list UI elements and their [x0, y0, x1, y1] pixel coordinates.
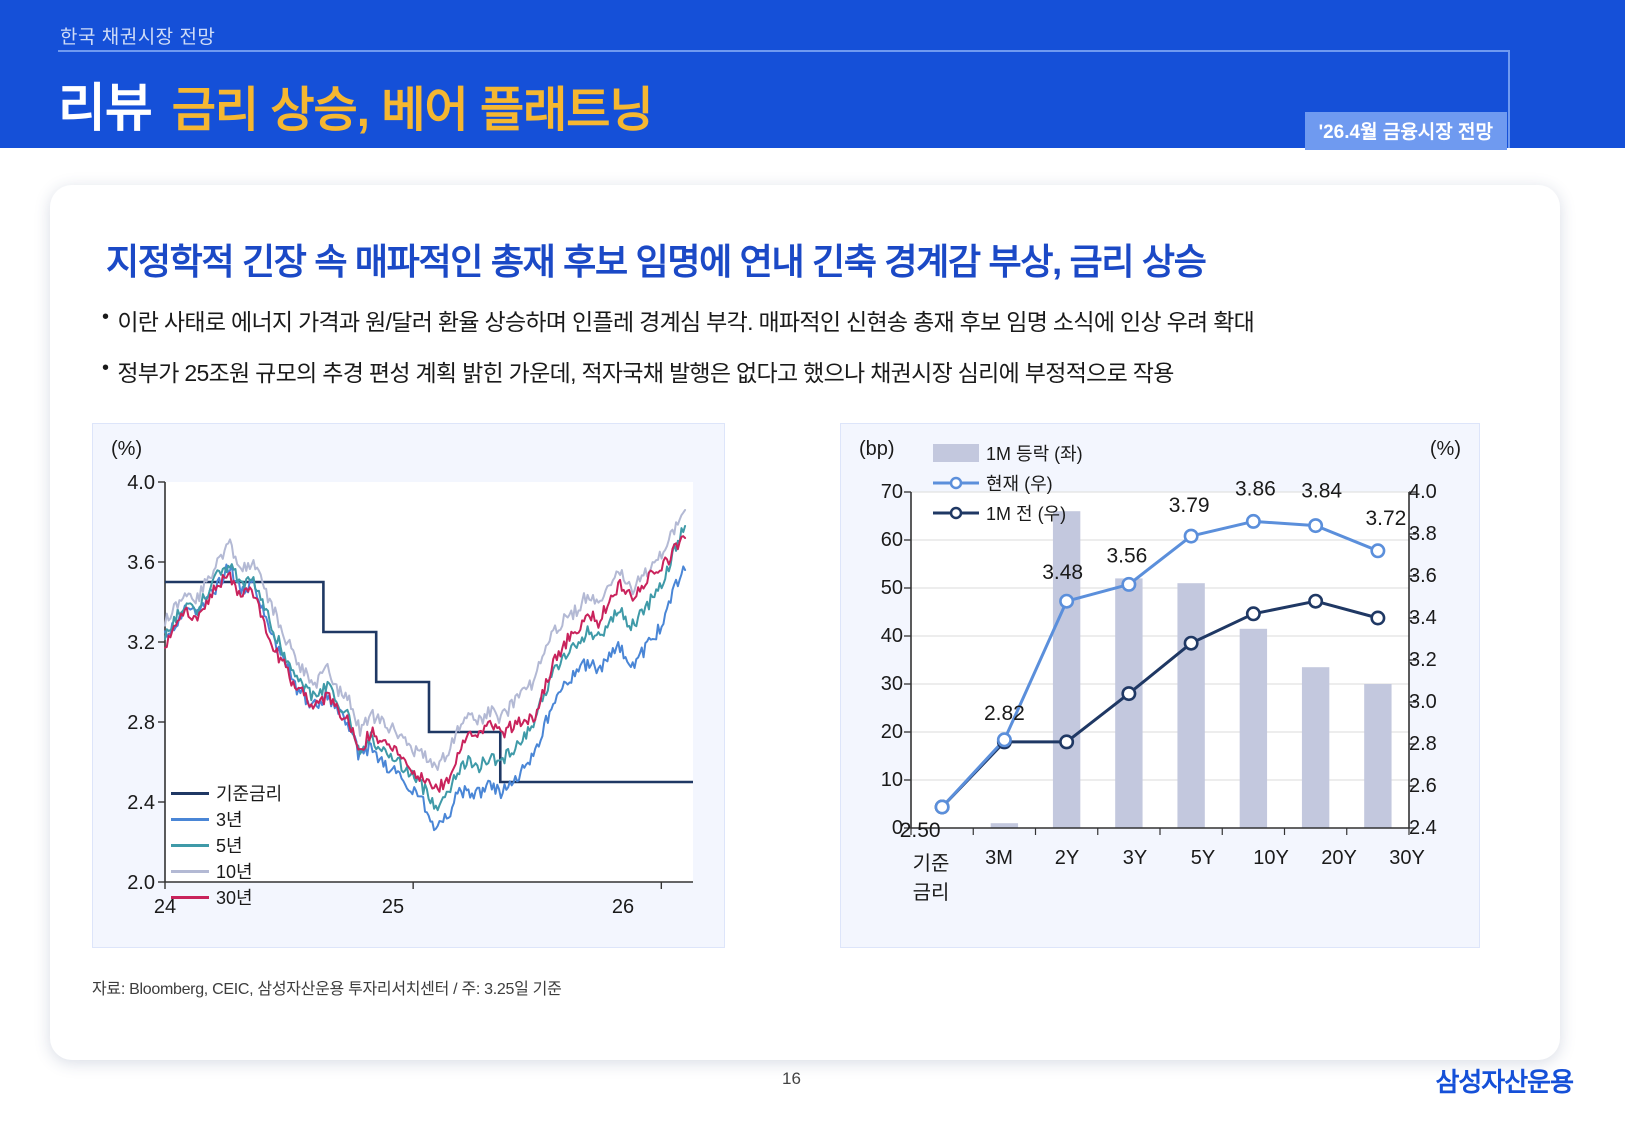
list-item: • 이란 사태로 에너지 가격과 원/달러 환율 상승하며 인플레 경계심 부각…: [102, 303, 1522, 337]
right-chart-left-ytick: 70: [841, 481, 903, 504]
data-label: 3.56: [1106, 544, 1147, 567]
content-card: 지정학적 긴장 속 매파적인 총재 후보 임명에 연내 긴축 경계감 부상, 금…: [50, 185, 1560, 1060]
data-point: [1060, 595, 1072, 607]
right-chart-xtick: 2Y: [1033, 847, 1101, 870]
left-chart-xtick: 25: [373, 896, 413, 919]
right-chart-right-ytick: 4.0: [1409, 481, 1471, 504]
right-chart-xtick: 10Y: [1237, 847, 1305, 870]
legend-label: 1M 등락 (좌): [986, 440, 1083, 466]
bar: [1053, 511, 1080, 828]
source-note: 자료: Bloomberg, CEIC, 삼성자산운용 투자리서치센터 / 주:…: [92, 975, 562, 999]
right-chart-right-ytick: 2.6: [1409, 775, 1471, 798]
right-chart-right-ytick: 2.4: [1409, 817, 1471, 840]
right-chart-xtick: 30Y: [1373, 847, 1441, 870]
left-chart-legend-item: 3년: [171, 806, 243, 832]
data-point: [1185, 637, 1197, 649]
data-point: [1060, 736, 1072, 748]
data-point: [1185, 530, 1197, 542]
legend-label: 현재 (우): [986, 470, 1053, 496]
data-label: 3.72: [1365, 507, 1406, 530]
right-chart-right-ytick: 2.8: [1409, 733, 1471, 756]
header-divider: [58, 50, 1510, 52]
legend-swatch-line-icon: [171, 818, 209, 821]
right-chart-right-ytick: 3.6: [1409, 565, 1471, 588]
bar: [1177, 583, 1204, 828]
left-chart-ytick: 2.8: [93, 712, 155, 735]
legend-swatch-line-marker-icon: [933, 476, 979, 490]
legend-swatch-line-marker-icon: [933, 506, 979, 520]
left-chart-legend-item: 5년: [171, 832, 243, 858]
legend-swatch-line-icon: [171, 844, 209, 847]
section-headline: 지정학적 긴장 속 매파적인 총재 후보 임명에 연내 긴축 경계감 부상, 금…: [106, 233, 1506, 285]
legend-swatch-line-icon: [171, 792, 209, 795]
slide-header: 한국 채권시장 전망 리뷰 금리 상승, 베어 플래트닝 '26.4월 금융시장…: [0, 0, 1625, 148]
right-chart-xtick: 기준: [897, 847, 965, 876]
legend-label: 기준금리: [216, 780, 282, 806]
data-point: [1309, 519, 1321, 531]
bullet-list: • 이란 사태로 에너지 가격과 원/달러 환율 상승하며 인플레 경계심 부각…: [102, 303, 1522, 405]
bar: [1302, 667, 1329, 828]
right-chart-left-ytick: 60: [841, 529, 903, 552]
legend-label: 3년: [216, 806, 243, 832]
left-chart-ytick: 2.0: [93, 872, 155, 895]
right-chart-legend-item: 1M 전 (우): [933, 500, 1066, 526]
left-chart-xtick: 26: [603, 896, 643, 919]
page-title: 리뷰 금리 상승, 베어 플래트닝: [58, 66, 653, 141]
right-chart-legend-item: 현재 (우): [933, 470, 1053, 496]
left-chart-ytick: 2.4: [93, 792, 155, 815]
legend-label: 10년: [216, 858, 253, 884]
page-title-main: 금리 상승, 베어 플래트닝: [172, 70, 653, 140]
issue-badge: '26.4월 금융시장 전망: [1305, 112, 1507, 150]
data-point: [1372, 612, 1384, 624]
right-chart-xtick: 5Y: [1169, 847, 1237, 870]
right-chart-left-ytick: 50: [841, 577, 903, 600]
right-chart-xtick: 20Y: [1305, 847, 1373, 870]
data-point: [1309, 595, 1321, 607]
legend-swatch-line-icon: [171, 870, 209, 873]
right-chart-left-ytick: 10: [841, 769, 903, 792]
bullet-dot-icon: •: [102, 354, 108, 383]
right-chart-left-ytick: 30: [841, 673, 903, 696]
right-chart-xtick: 3Y: [1101, 847, 1169, 870]
data-point: [1123, 687, 1135, 699]
right-chart-left-ytick: 40: [841, 625, 903, 648]
left-chart-ytick: 4.0: [93, 472, 155, 495]
page-number: 16: [782, 1069, 801, 1089]
legend-label: 5년: [216, 832, 243, 858]
right-chart-xtick-sub: 금리: [897, 876, 965, 905]
left-chart-legend-item: 30년: [171, 884, 253, 910]
bar: [1240, 629, 1267, 828]
right-chart-right-ytick: 3.4: [1409, 607, 1471, 630]
data-point: [1247, 515, 1259, 527]
data-point: [1247, 608, 1259, 620]
slide: 한국 채권시장 전망 리뷰 금리 상승, 베어 플래트닝 '26.4월 금융시장…: [0, 0, 1625, 1125]
right-chart-left-unit: (bp): [859, 438, 895, 461]
header-divider-right: [1508, 50, 1510, 148]
data-point: [1372, 545, 1384, 557]
left-chart-ytick: 3.2: [93, 632, 155, 655]
left-chart-ytick: 3.6: [93, 552, 155, 575]
right-chart-right-ytick: 3.8: [1409, 523, 1471, 546]
data-label: 3.86: [1235, 477, 1276, 500]
data-point: [998, 734, 1010, 746]
left-chart-legend-item: 기준금리: [171, 780, 282, 806]
right-chart-left-ytick: 20: [841, 721, 903, 744]
right-chart-xtick: 3M: [965, 847, 1033, 870]
legend-swatch-bar-icon: [933, 444, 979, 462]
data-label: 3.79: [1169, 494, 1210, 517]
legend-swatch-line-icon: [171, 896, 209, 899]
right-chart-right-ytick: 3.2: [1409, 649, 1471, 672]
left-chart-y-unit: (%): [111, 438, 142, 461]
right-chart-left-ytick: 0: [841, 817, 903, 840]
legend-label: 30년: [216, 884, 253, 910]
data-point: [936, 801, 948, 813]
data-label: 3.48: [1042, 561, 1083, 584]
legend-label: 1M 전 (우): [986, 500, 1066, 526]
bar: [1364, 684, 1391, 828]
right-chart-legend-item: 1M 등락 (좌): [933, 440, 1083, 466]
left-chart-legend-item: 10년: [171, 858, 253, 884]
chart-panel-curve-change: (bp) (%) 70 60 50 40 30 20 10 0 4.0 3.8 …: [840, 423, 1480, 948]
bullet-text: 이란 사태로 에너지 가격과 원/달러 환율 상승하며 인플레 경계심 부각. …: [117, 303, 1254, 337]
list-item: • 정부가 25조원 규모의 추경 편성 계획 밝힌 가운데, 적자국채 발행은…: [102, 354, 1522, 388]
bullet-text: 정부가 25조원 규모의 추경 편성 계획 밝힌 가운데, 적자국채 발행은 없…: [117, 354, 1173, 388]
data-label: 2.82: [984, 702, 1025, 725]
data-label: 2.50: [900, 819, 941, 842]
breadcrumb: 한국 채권시장 전망: [60, 22, 215, 49]
right-chart-right-ytick: 3.0: [1409, 691, 1471, 714]
right-chart-right-unit: (%): [1430, 438, 1461, 461]
chart-panel-rates-timeseries: (%) 4.0 3.6 3.2 2.8 2.4 2.0 24 25 26 기준금…: [92, 423, 725, 948]
bullet-dot-icon: •: [102, 303, 108, 332]
bar: [1115, 578, 1142, 828]
data-point: [1123, 578, 1135, 590]
page-title-kind: 리뷰: [58, 66, 152, 141]
data-label: 3.84: [1301, 480, 1342, 503]
brand-logo: 삼성자산운용: [1435, 1062, 1573, 1099]
